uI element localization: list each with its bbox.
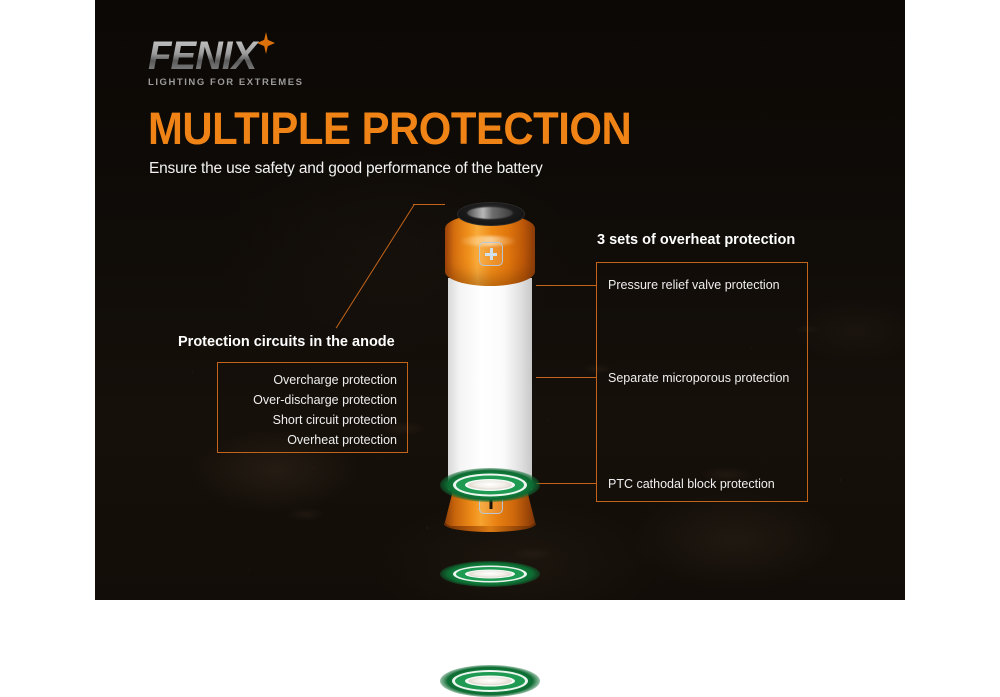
page-subtitle: Ensure the use safety and good performan… (149, 160, 543, 178)
battery-terminal-inner (467, 207, 513, 219)
fenix-logo: FENIX LIGHTING FOR EXTREMES (148, 36, 328, 82)
glow-ring-ptc-cathodal (440, 665, 540, 697)
positive-terminal-badge (479, 242, 503, 266)
page-title: MULTIPLE PROTECTION (148, 103, 631, 155)
list-item: Over-discharge protection (253, 390, 397, 410)
list-item: Separate microporous protection (608, 371, 789, 385)
right-section-heading: 3 sets of overheat protection (597, 232, 795, 248)
left-callout-list: Overcharge protection Over-discharge pro… (253, 370, 397, 450)
brand-tagline: LIGHTING FOR EXTREMES (148, 77, 328, 88)
plus-icon (485, 248, 497, 260)
battery-body (448, 278, 532, 490)
list-item: Overheat protection (253, 430, 397, 450)
connector-right-3 (536, 483, 597, 484)
list-item: Short circuit protection (253, 410, 397, 430)
connector-right-2 (536, 377, 597, 378)
brand-name: FENIX (148, 36, 321, 76)
infographic-canvas: FENIX LIGHTING FOR EXTREMES MULTIPLE PRO… (0, 0, 1000, 600)
battery-illustration (440, 200, 540, 530)
list-item: PTC cathodal block protection (608, 477, 775, 491)
left-section-heading: Protection circuits in the anode (178, 334, 395, 350)
list-item: Pressure relief valve protection (608, 278, 780, 292)
glow-ring-microporous (440, 561, 540, 587)
list-item: Overcharge protection (253, 370, 397, 390)
right-callout-box: Pressure relief valve protection Separat… (596, 262, 808, 502)
left-callout-box: Overcharge protection Over-discharge pro… (217, 362, 408, 453)
glow-ring-pressure-relief (440, 468, 540, 502)
connector-right-1 (536, 285, 597, 286)
